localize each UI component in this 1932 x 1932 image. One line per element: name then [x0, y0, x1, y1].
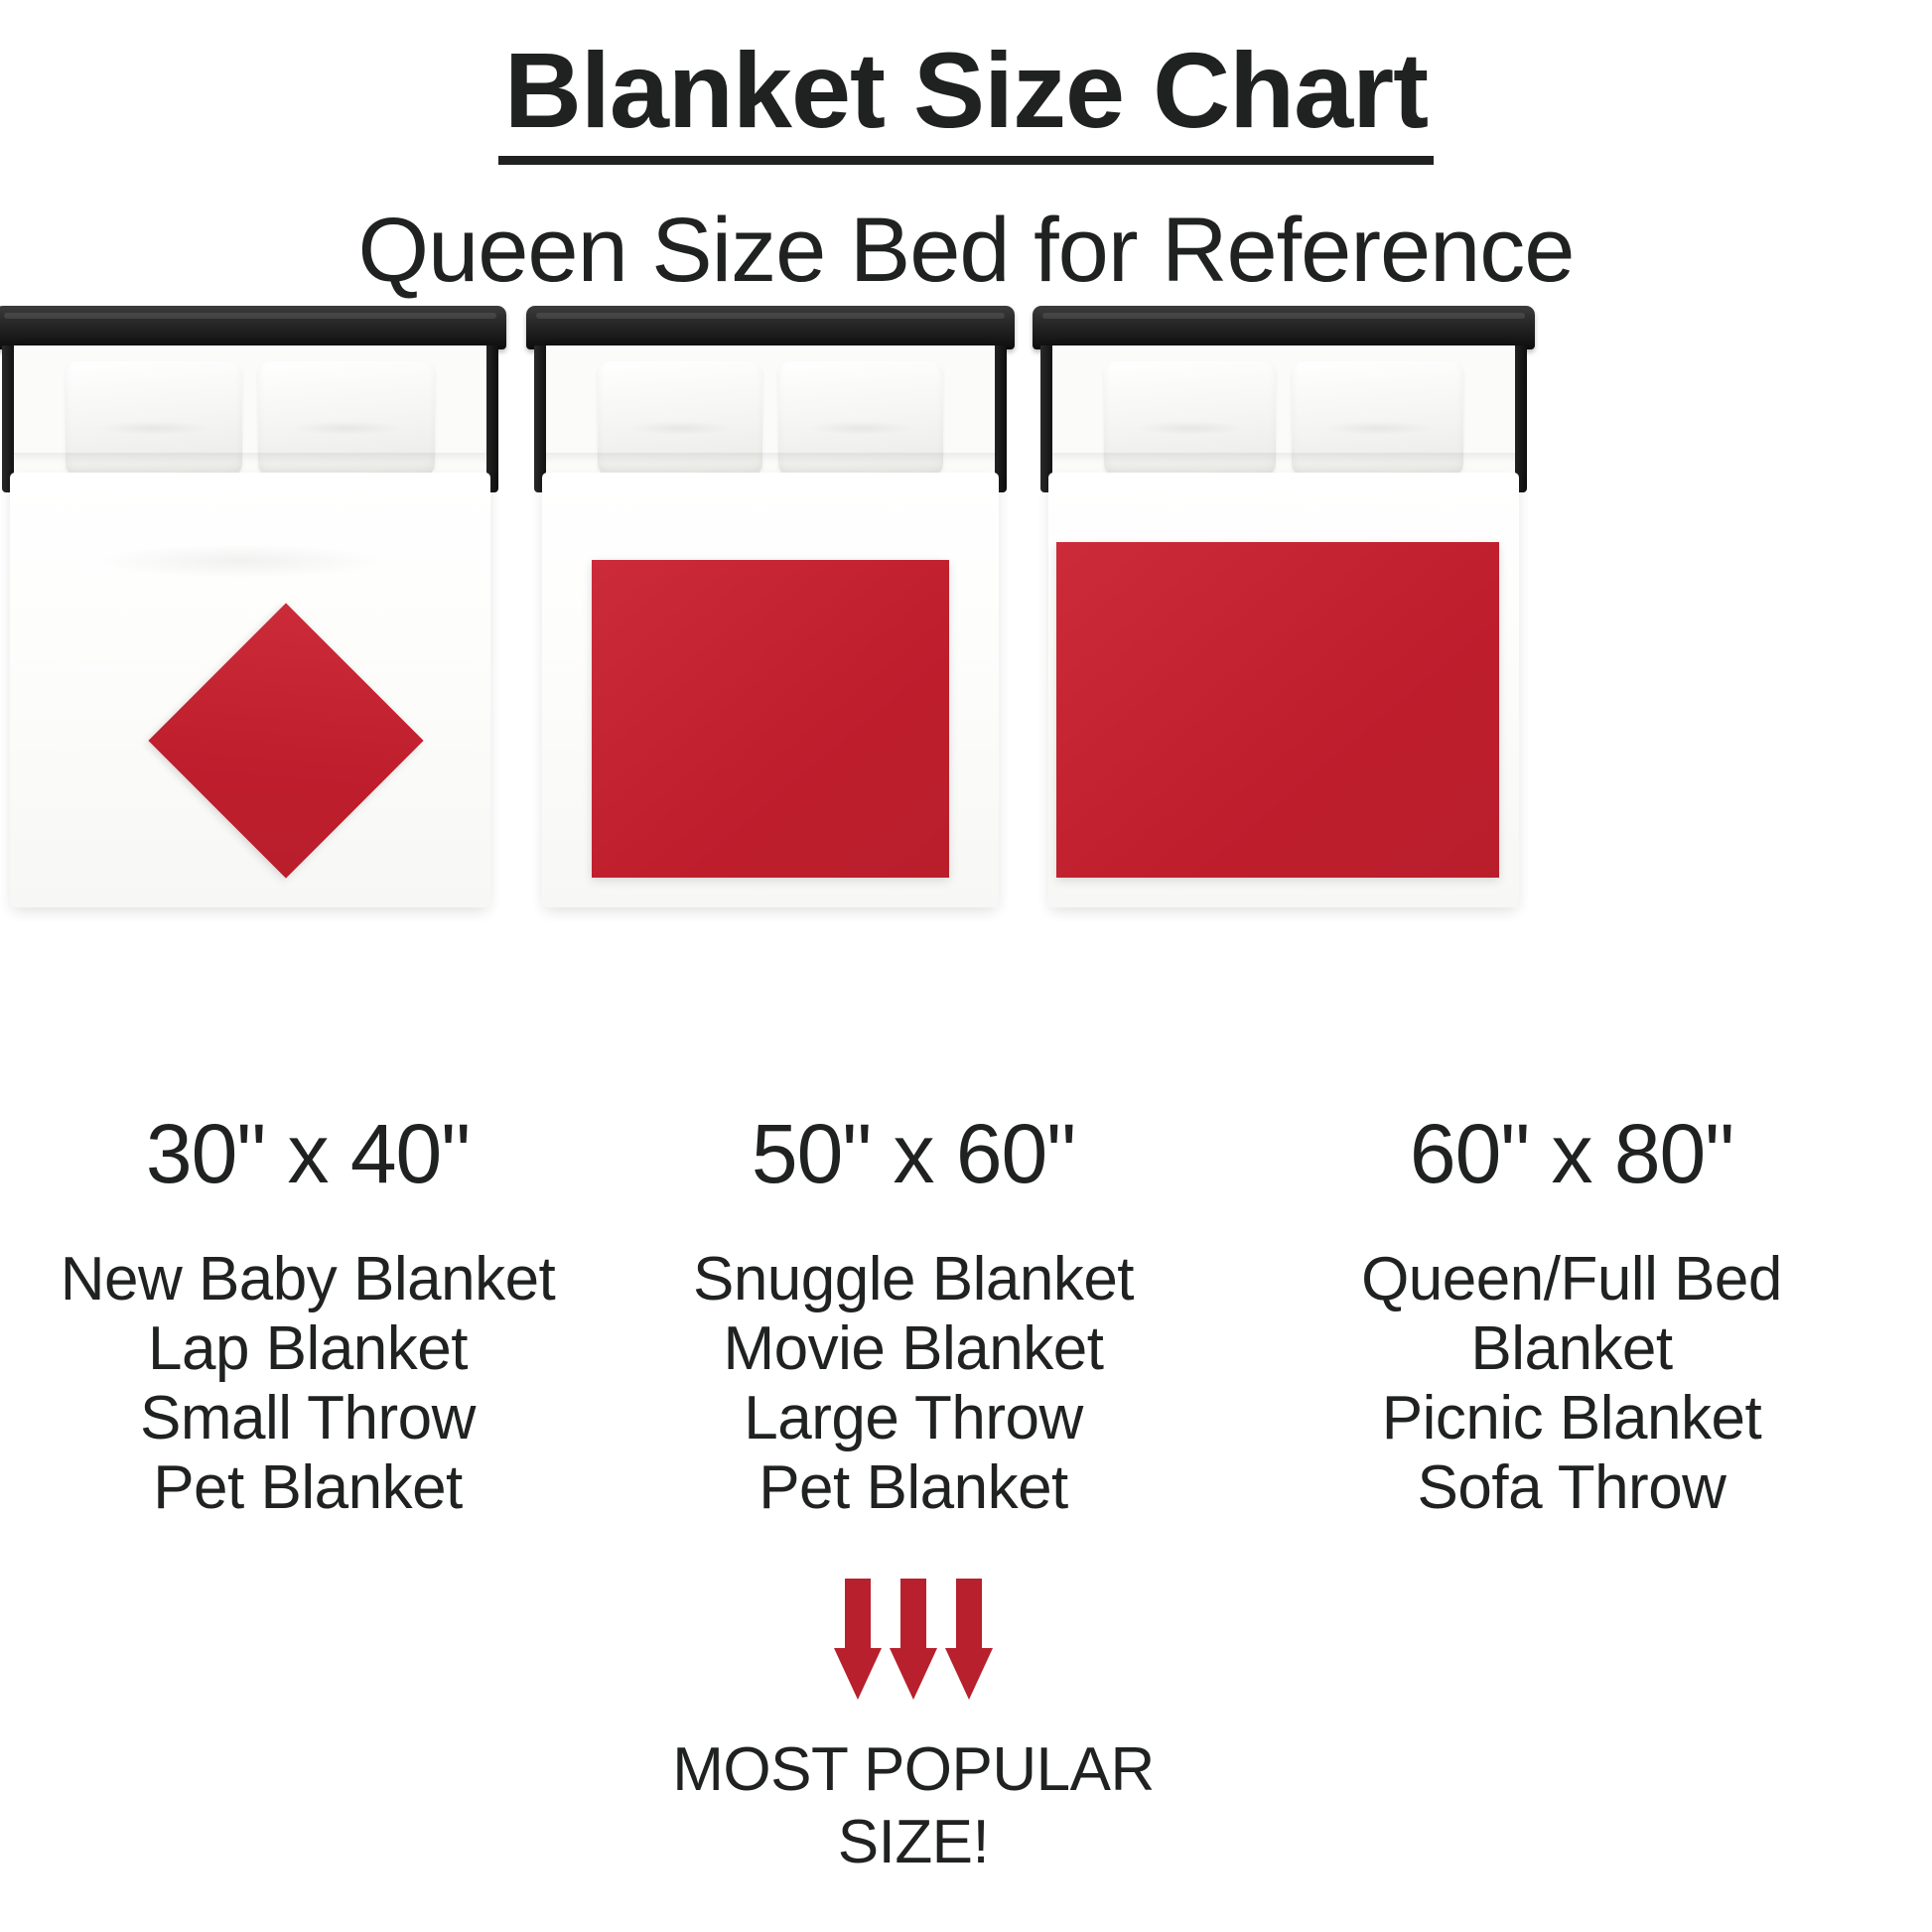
size-dimensions-2: 50" x 60" — [616, 1112, 1211, 1195]
use-list-2: Snuggle Blanket Movie Blanket Large Thro… — [616, 1245, 1211, 1523]
use-item: Pet Blanket — [616, 1453, 1211, 1523]
mattress — [1052, 345, 1515, 903]
bed-illustrations — [0, 306, 1932, 913]
use-item: Small Throw — [0, 1384, 616, 1453]
most-popular-line-2: SIZE! — [616, 1806, 1211, 1878]
sheet-fold — [1052, 453, 1515, 463]
use-item: Picnic Blanket — [1211, 1384, 1932, 1453]
use-item: Blanket — [1211, 1314, 1932, 1384]
arrow-shaft — [845, 1579, 871, 1654]
most-popular-line-1: MOST POPULAR — [616, 1733, 1211, 1806]
arrow-down-icon — [841, 1579, 875, 1698]
use-item: Pet Blanket — [0, 1453, 616, 1523]
page-header: Blanket Size Chart Queen Size Bed for Re… — [0, 0, 1932, 299]
arrow-head — [890, 1648, 937, 1700]
use-list-3: Queen/Full Bed Blanket Picnic Blanket So… — [1211, 1245, 1932, 1523]
use-item: New Baby Blanket — [0, 1245, 616, 1314]
size-column-1: 30" x 40" New Baby Blanket Lap Blanket S… — [0, 1112, 616, 1523]
blanket-shading — [592, 560, 949, 878]
bed-illustration-1 — [0, 306, 506, 913]
use-item: Sofa Throw — [1211, 1453, 1932, 1523]
sheet-fold — [546, 453, 995, 463]
use-item: Large Throw — [616, 1384, 1211, 1453]
blanket-swatch-3 — [1056, 542, 1499, 878]
page-title: Blanket Size Chart — [498, 34, 1434, 165]
blanket-shading — [1056, 542, 1499, 878]
arrow-shaft — [900, 1579, 926, 1654]
headboard-icon — [0, 306, 506, 349]
mattress — [14, 345, 486, 903]
blanket-swatch-2 — [592, 560, 949, 878]
arrow-down-icon — [897, 1579, 930, 1698]
headboard-icon — [1033, 306, 1535, 349]
most-popular-callout: MOST POPULAR SIZE! — [616, 1579, 1211, 1878]
bed-illustration-2 — [526, 306, 1015, 913]
size-column-2: 50" x 60" Snuggle Blanket Movie Blanket … — [616, 1112, 1211, 1523]
bed-illustration-3 — [1033, 306, 1535, 913]
arrow-head — [945, 1648, 993, 1700]
most-popular-text: MOST POPULAR SIZE! — [616, 1733, 1211, 1878]
size-dimensions-1: 30" x 40" — [0, 1112, 616, 1195]
sheet-fold — [14, 453, 486, 463]
page-subtitle: Queen Size Bed for Reference — [0, 203, 1932, 299]
bedding-crease — [99, 544, 383, 578]
use-item: Movie Blanket — [616, 1314, 1211, 1384]
use-list-1: New Baby Blanket Lap Blanket Small Throw… — [0, 1245, 616, 1523]
size-dimensions-3: 60" x 80" — [1211, 1112, 1932, 1195]
use-item: Lap Blanket — [0, 1314, 616, 1384]
headboard-icon — [526, 306, 1015, 349]
use-item: Snuggle Blanket — [616, 1245, 1211, 1314]
arrow-shaft — [956, 1579, 982, 1654]
down-arrows-group — [616, 1579, 1211, 1698]
arrow-head — [834, 1648, 882, 1700]
arrow-down-icon — [952, 1579, 986, 1698]
use-item: Queen/Full Bed — [1211, 1245, 1932, 1314]
mattress — [546, 345, 995, 903]
size-column-3: 60" x 80" Queen/Full Bed Blanket Picnic … — [1211, 1112, 1932, 1523]
